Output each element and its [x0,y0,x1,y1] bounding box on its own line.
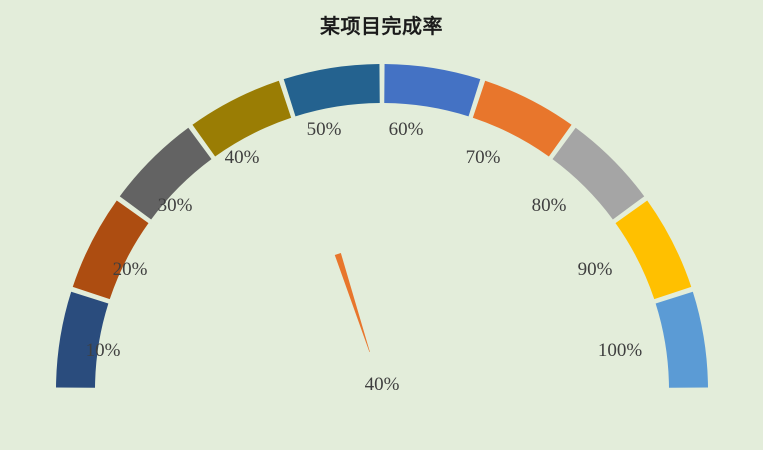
gauge-needle [335,253,370,352]
gauge-tick-label: 40% [225,147,260,168]
gauge-segment-100pct [656,292,708,388]
gauge-tick-label: 20% [113,259,148,280]
gauge-value-label: 40% [365,374,400,395]
gauge-segment-60pct [384,64,480,116]
gauge-tick-label: 80% [532,195,567,216]
gauge-segment-50pct [284,64,380,116]
gauge-tick-label: 100% [598,340,643,361]
gauge-tick-label: 50% [307,119,342,140]
gauge-svg: 10%20%30%40%50%60%70%80%90%100% 40% [0,0,763,450]
gauge-segment-40pct [192,81,291,157]
gauge-tick-label: 90% [578,259,613,280]
gauge-tick-label: 30% [158,195,193,216]
gauge-segment-90pct [616,200,692,299]
needle-pointer [335,253,370,352]
gauge-segment-70pct [473,81,572,157]
gauge-tick-label: 60% [389,119,424,140]
gauge-tick-label: 10% [86,340,121,361]
gauge-segment-20pct [73,200,149,299]
gauge-tick-label: 70% [466,147,501,168]
gauge-chart: 某项目完成率 10%20%30%40%50%60%70%80%90%100% 4… [0,0,763,450]
